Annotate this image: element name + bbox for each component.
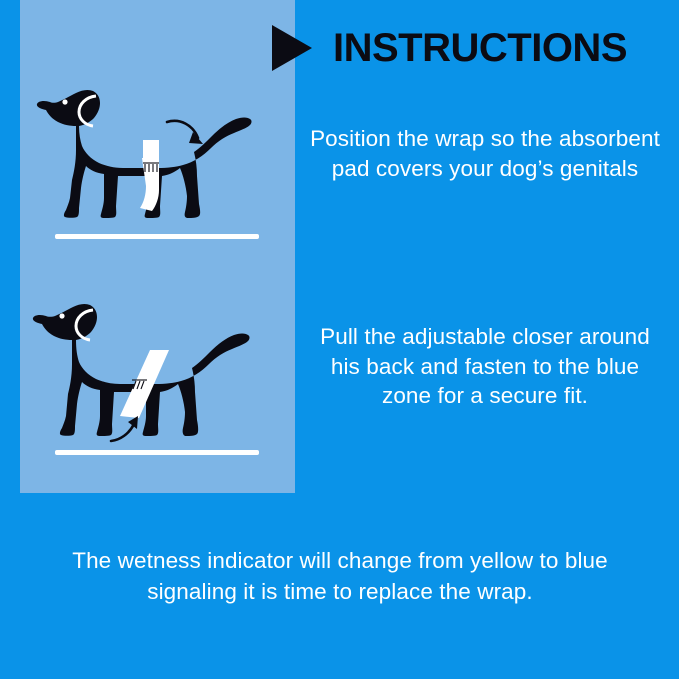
page-title: INSTRUCTIONS bbox=[333, 28, 627, 68]
footer-note-text: The wetness indicator will change from y… bbox=[28, 545, 652, 607]
dog-illustration-step-1 bbox=[28, 80, 278, 240]
arrow-up-icon bbox=[111, 416, 138, 441]
step-2-instruction-text: Pull the adjustable closer around his ba… bbox=[305, 322, 665, 411]
header: INSTRUCTIONS bbox=[272, 18, 672, 78]
play-triangle-icon bbox=[272, 25, 312, 71]
wrap-top-tab bbox=[143, 140, 159, 158]
instructions-infographic: INSTRUCTIONS bbox=[0, 0, 679, 679]
ground-line-step-1 bbox=[55, 234, 259, 239]
arrow-down-right-icon bbox=[167, 121, 203, 144]
dog-eye bbox=[59, 313, 64, 318]
ground-line-step-2 bbox=[55, 450, 259, 455]
step-1-instruction-text: Position the wrap so the absorbent pad c… bbox=[305, 124, 665, 183]
dog-illustration-step-2 bbox=[28, 290, 278, 460]
dog-eye bbox=[62, 99, 67, 104]
